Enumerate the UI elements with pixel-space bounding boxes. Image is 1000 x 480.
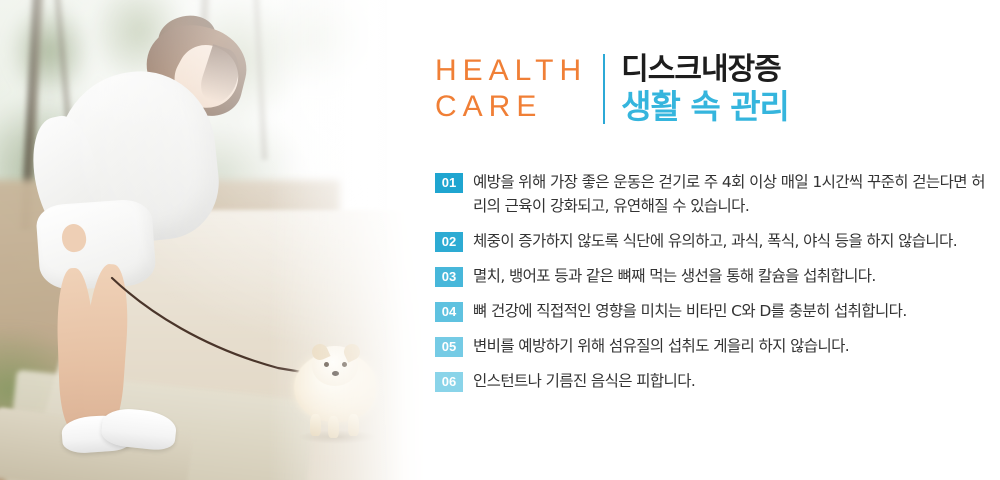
dog-eye bbox=[324, 362, 329, 367]
tip-number-badge: 02 bbox=[435, 232, 463, 252]
list-item: 01 예방을 위해 가장 좋은 운동은 걷기로 주 4회 이상 매일 1시간씩 … bbox=[435, 170, 993, 218]
content-panel: HEALTH CARE 디스크내장증 생활 속 관리 01 예방을 위해 가장 … bbox=[430, 0, 1000, 480]
headline-korean: 디스크내장증 생활 속 관리 bbox=[605, 52, 789, 126]
list-item: 02 체중이 증가하지 않도록 식단에 유의하고, 과식, 폭식, 야식 등을 … bbox=[435, 229, 993, 253]
dog-leg bbox=[328, 416, 339, 438]
tip-number-badge: 06 bbox=[435, 372, 463, 392]
headline-english: HEALTH CARE bbox=[435, 52, 603, 126]
headline-english-line-1: HEALTH bbox=[435, 53, 587, 89]
tip-number-badge: 03 bbox=[435, 267, 463, 287]
dog-leg bbox=[348, 414, 359, 436]
pomeranian-dog bbox=[276, 330, 396, 450]
list-item: 03 멸치, 뱅어포 등과 같은 뼈째 먹는 생선을 통해 칼슘을 섭취합니다. bbox=[435, 264, 993, 288]
tip-text: 체중이 증가하지 않도록 식단에 유의하고, 과식, 폭식, 야식 등을 하지 … bbox=[463, 229, 993, 253]
headline-korean-bottom: 생활 속 관리 bbox=[621, 88, 789, 126]
headline: HEALTH CARE 디스크내장증 생활 속 관리 bbox=[435, 52, 789, 126]
photo-scene bbox=[0, 0, 430, 480]
tip-text: 예방을 위해 가장 좋은 운동은 걷기로 주 4회 이상 매일 1시간씩 꾸준히… bbox=[463, 170, 993, 218]
tip-text: 뼈 건강에 직접적인 영향을 미치는 비타민 C와 D를 충분히 섭취합니다. bbox=[463, 299, 993, 323]
list-item: 04 뼈 건강에 직접적인 영향을 미치는 비타민 C와 D를 충분히 섭취합니… bbox=[435, 299, 993, 323]
dog-eye bbox=[342, 362, 347, 367]
tip-text: 멸치, 뱅어포 등과 같은 뼈째 먹는 생선을 통해 칼슘을 섭취합니다. bbox=[463, 264, 993, 288]
woman-figure bbox=[18, 6, 278, 476]
list-item: 05 변비를 예방하기 위해 섬유질의 섭취도 게을리 하지 않습니다. bbox=[435, 334, 993, 358]
tip-number-badge: 05 bbox=[435, 337, 463, 357]
dog-nose bbox=[332, 371, 339, 376]
headline-english-line-2: CARE bbox=[435, 89, 587, 125]
tips-list: 01 예방을 위해 가장 좋은 운동은 걷기로 주 4회 이상 매일 1시간씩 … bbox=[435, 170, 993, 404]
health-care-banner: HEALTH CARE 디스크내장증 생활 속 관리 01 예방을 위해 가장 … bbox=[0, 0, 1000, 480]
dog-leg bbox=[310, 414, 321, 436]
headline-korean-top: 디스크내장증 bbox=[621, 52, 789, 88]
list-item: 06 인스턴트나 기름진 음식은 피합니다. bbox=[435, 369, 993, 393]
tip-text: 인스턴트나 기름진 음식은 피합니다. bbox=[463, 369, 993, 393]
tip-number-badge: 01 bbox=[435, 173, 463, 193]
tip-number-badge: 04 bbox=[435, 302, 463, 322]
hero-photo bbox=[0, 0, 430, 480]
tip-text: 변비를 예방하기 위해 섬유질의 섭취도 게을리 하지 않습니다. bbox=[463, 334, 993, 358]
